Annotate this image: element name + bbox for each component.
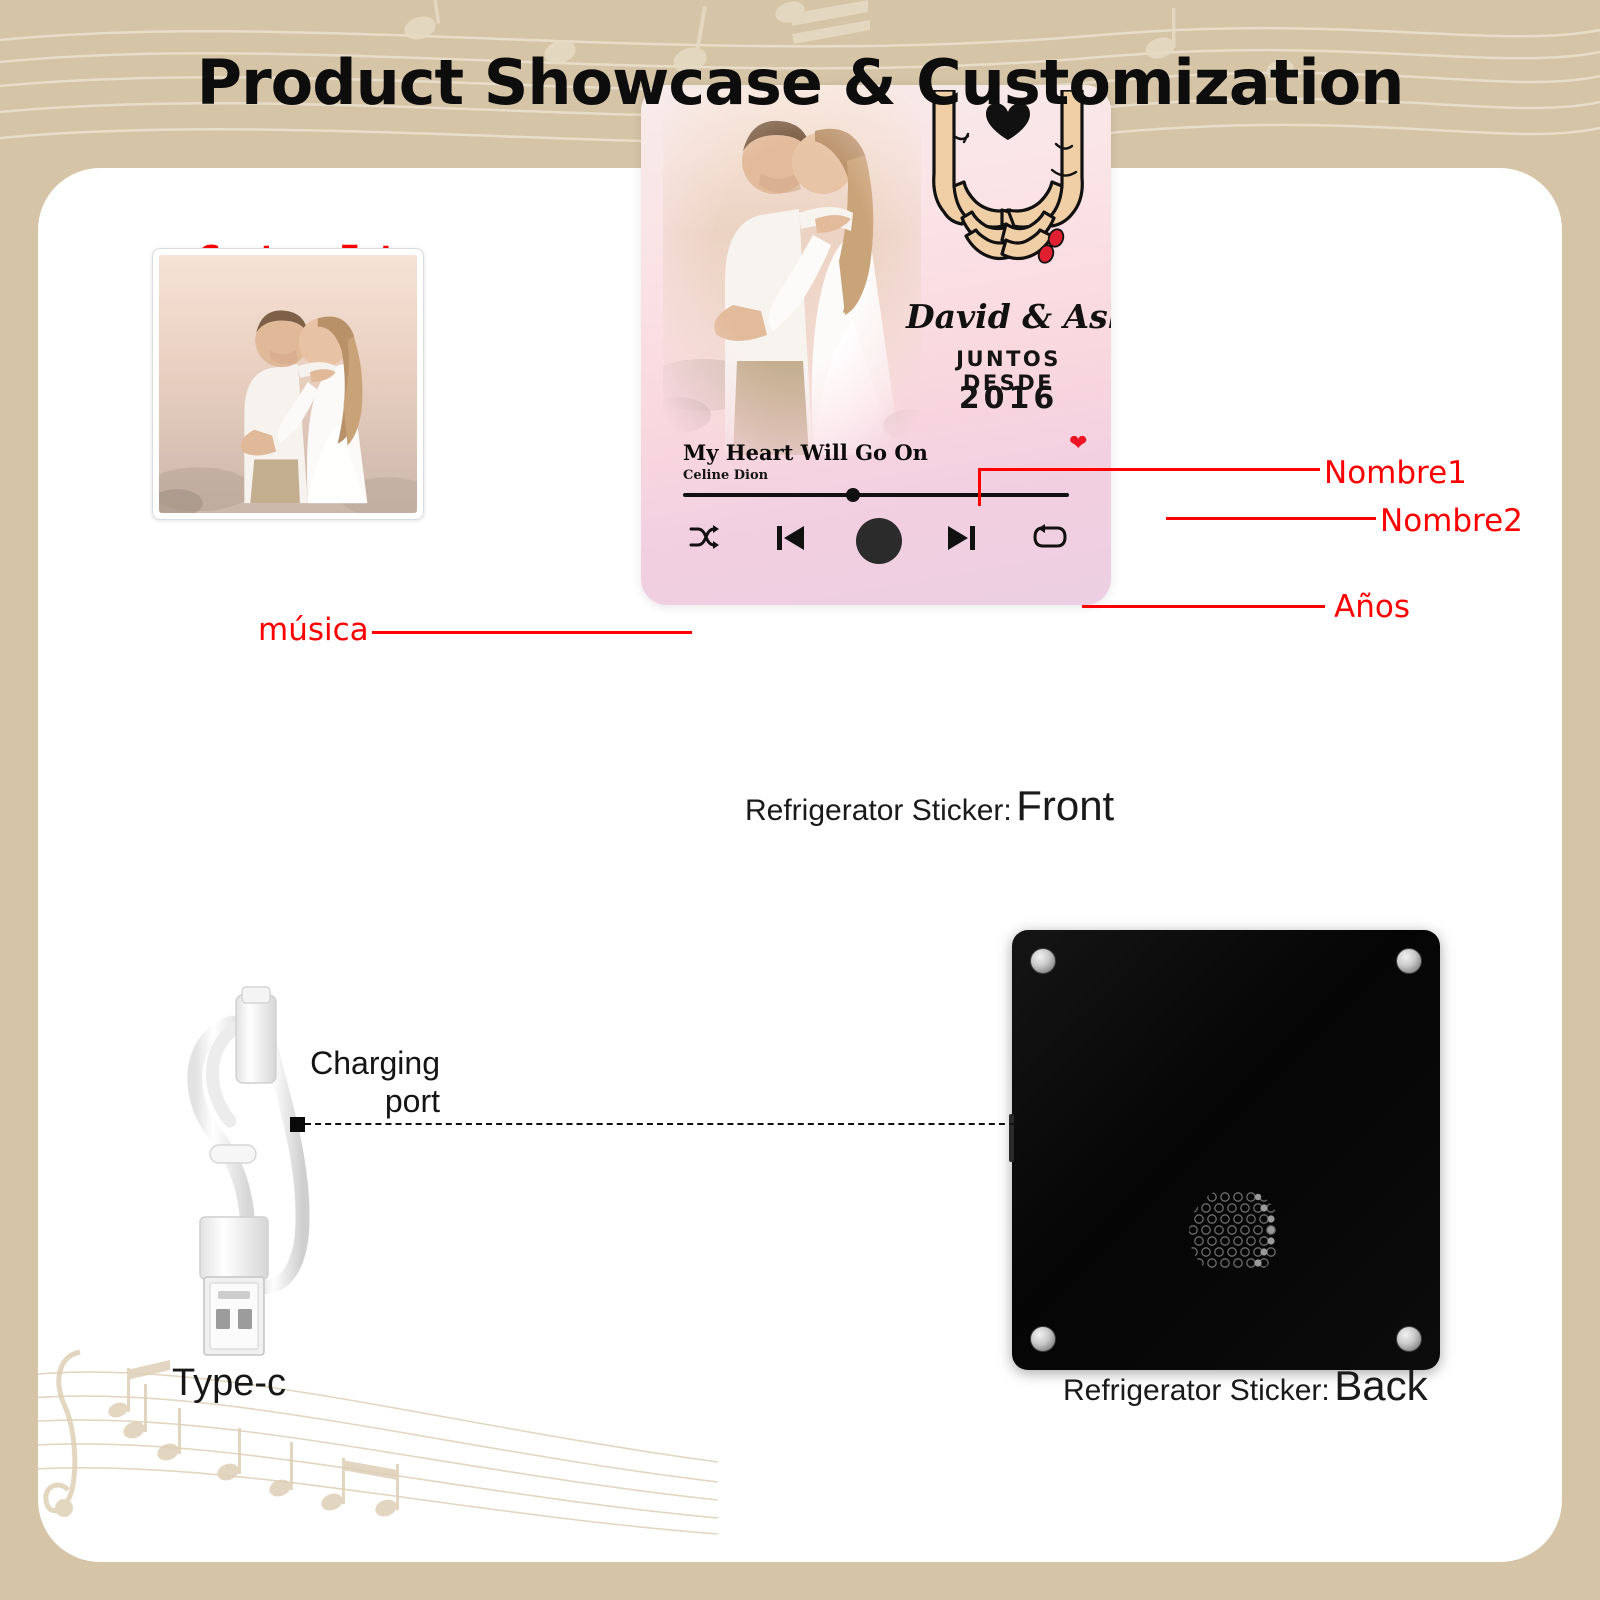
charging-port-label: Charging port [300, 1045, 440, 1121]
usb-type-c-cable-icon [160, 985, 350, 1365]
sticker-names: David & Ashley [906, 297, 1111, 336]
corner-screw-icon [1396, 948, 1422, 974]
front-caption: Refrigerator Sticker: Front [745, 782, 1114, 830]
anos-callout-label: Años [1334, 589, 1410, 625]
musica-callout-line [372, 631, 692, 634]
next-track-icon[interactable] [947, 524, 977, 552]
front-caption-value: Front [1016, 782, 1114, 829]
footer-music-staff-decoration [38, 1312, 718, 1562]
play-button[interactable] [856, 518, 902, 564]
back-caption-value: Back [1334, 1362, 1427, 1409]
song-artist: Celine Dion [683, 468, 768, 483]
charging-port-leader-line [305, 1123, 1015, 1125]
charging-port-label-line2: port [385, 1083, 440, 1119]
charging-port-marker-icon [290, 1117, 305, 1132]
anos-callout-line [1082, 605, 1325, 608]
speaker-grille-icon [1188, 1186, 1282, 1280]
charging-port-notch-icon [1009, 1114, 1014, 1162]
nombre1-callout-line-h [978, 468, 1320, 471]
corner-screw-icon [1030, 948, 1056, 974]
music-controls [683, 510, 1069, 580]
back-caption-prefix: Refrigerator Sticker: [1063, 1374, 1330, 1407]
nombre1-callout-label: Nombre1 [1324, 455, 1467, 491]
song-title: My Heart Will Go On [683, 440, 928, 465]
pinky-promise-hands-icon [906, 90, 1111, 285]
sticker-year: 2016 [906, 381, 1111, 416]
previous-track-icon[interactable] [775, 524, 805, 552]
repeat-icon[interactable] [1033, 524, 1067, 550]
progress-handle[interactable] [846, 488, 860, 502]
charging-port-label-line1: Charging [310, 1045, 440, 1081]
corner-screw-icon [1030, 1326, 1056, 1352]
nombre2-callout-line [1166, 517, 1376, 520]
nombre1-callout-line-v [978, 468, 981, 506]
heart-icon: ❤ [1069, 432, 1087, 454]
back-sticker-product[interactable] [1012, 930, 1440, 1370]
type-c-label: Type-c [172, 1362, 286, 1405]
custom-photo-frame[interactable] [152, 248, 424, 520]
back-caption: Refrigerator Sticker: Back [1063, 1362, 1428, 1410]
custom-photo-image [159, 255, 417, 513]
front-sticker-photo [663, 85, 921, 455]
page-title: Product Showcase & Customization [0, 46, 1600, 119]
progress-bar[interactable] [683, 493, 1069, 497]
front-sticker-product[interactable]: David & Ashley JUNTOS DESDE 2016 ❤ My He… [641, 85, 1111, 605]
nombre2-callout-label: Nombre2 [1380, 503, 1523, 539]
corner-screw-icon [1396, 1326, 1422, 1352]
musica-callout-label: música [258, 612, 369, 648]
shuffle-icon[interactable] [689, 524, 719, 550]
front-caption-prefix: Refrigerator Sticker: [745, 794, 1012, 827]
